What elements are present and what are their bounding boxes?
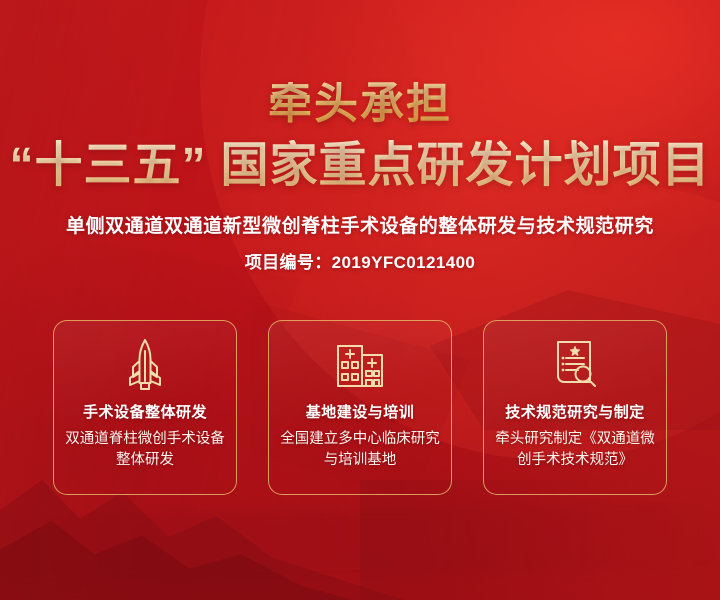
title-plan-name: “十三五”: [9, 139, 206, 192]
feature-card-base-training[interactable]: 基地建设与培训 全国建立多中心临床研究与培训基地: [268, 320, 452, 495]
feature-card-equipment-rnd[interactable]: 手术设备整体研发 双通道脊柱微创手术设备整体研发: [53, 320, 237, 495]
title-lead: 牵头承担: [0, 82, 720, 126]
card-description: 双通道脊柱微创手术设备整体研发: [65, 429, 225, 470]
card-title: 手术设备整体研发: [83, 401, 207, 422]
project-subtitle: 单侧双通道双通道新型微创脊柱手术设备的整体研发与技术规范研究: [0, 211, 720, 238]
card-title: 技术规范研究与制定: [505, 401, 645, 422]
hospital-building-icon: [332, 337, 388, 393]
rocket-icon: [121, 337, 169, 393]
page-title: “十三五”国家重点研发计划项目: [0, 140, 720, 192]
certificate-search-icon: [550, 337, 600, 393]
card-description: 牵头研究制定《双通道微创手术技术规范》: [495, 429, 655, 470]
card-description: 全国建立多中心临床研究与培训基地: [280, 429, 440, 470]
title-plan-rest: 国家重点研发计划项目: [221, 139, 711, 192]
banner-content: 牵头承担 “十三五”国家重点研发计划项目 单侧双通道双通道新型微创脊柱手术设备的…: [0, 0, 720, 600]
card-title: 基地建设与培训: [306, 401, 415, 422]
feature-card-tech-standard[interactable]: 技术规范研究与制定 牵头研究制定《双通道微创手术技术规范》: [483, 320, 667, 495]
promo-banner: 牵头承担 “十三五”国家重点研发计划项目 单侧双通道双通道新型微创脊柱手术设备的…: [0, 0, 720, 600]
project-number: 项目编号：2019YFC0121400: [0, 248, 720, 273]
feature-card-list: 手术设备整体研发 双通道脊柱微创手术设备整体研发: [53, 320, 667, 495]
